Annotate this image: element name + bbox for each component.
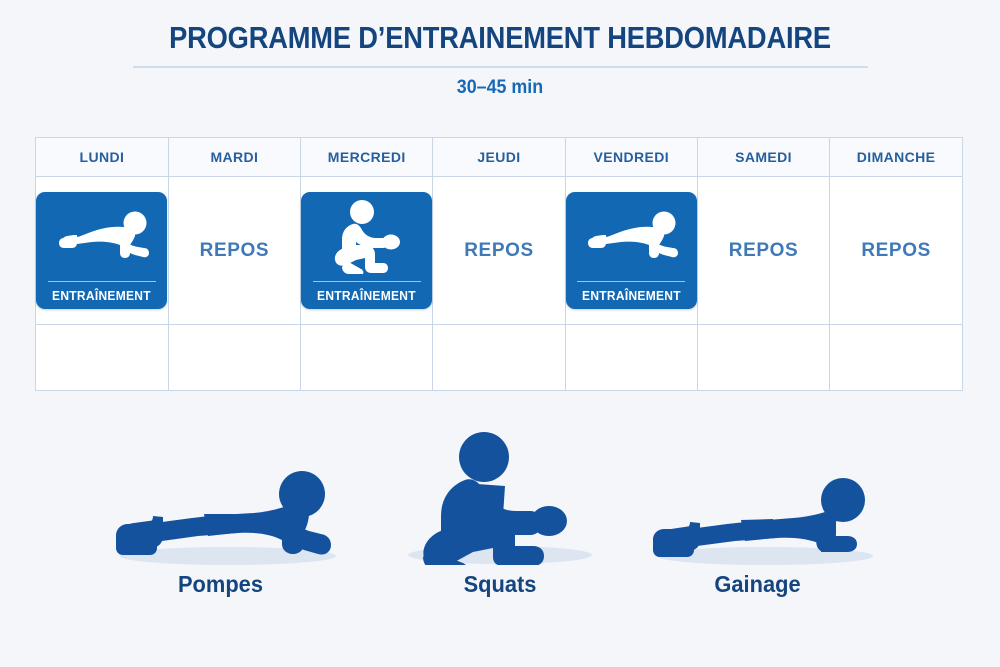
notes-cell-lundi[interactable] xyxy=(36,325,168,391)
exercise-gainage: Gainage xyxy=(625,460,890,598)
exercise-pompes: Pompes xyxy=(88,460,353,598)
workout-card-mercredi[interactable]: ENTRAÎNEMENT xyxy=(301,192,432,309)
card-label-lundi: ENTRAÎNEMENT xyxy=(52,282,151,309)
card-label-vendredi: ENTRAÎNEMENT xyxy=(582,282,681,309)
workout-card-vendredi[interactable]: ENTRAÎNEMENT xyxy=(566,192,697,309)
cell-vendredi[interactable]: ENTRAÎNEMENT xyxy=(565,177,697,325)
cell-mercredi[interactable]: ENTRAÎNEMENT xyxy=(301,177,433,325)
table-row-activities: ENTRAÎNEMENT REPOS xyxy=(36,177,962,325)
notes-cell-mercredi[interactable] xyxy=(301,325,433,391)
weekly-schedule-table: LUNDI MARDI MERCREDI JEUDI VENDREDI SAME… xyxy=(35,137,963,391)
notes-cell-samedi[interactable] xyxy=(697,325,829,391)
pushup-figure xyxy=(88,460,353,565)
exercise-label-gainage: Gainage xyxy=(632,571,884,598)
notes-cell-dimanche[interactable] xyxy=(830,325,962,391)
exercise-label-pompes: Pompes xyxy=(95,571,347,598)
plank-figure xyxy=(625,460,890,565)
pushup-icon xyxy=(566,192,697,281)
column-header-lundi: LUNDI xyxy=(36,138,168,177)
table-row-notes xyxy=(36,325,962,391)
exercise-illustrations: Pompes Squats xyxy=(0,425,1000,625)
rest-label-mardi: REPOS xyxy=(200,240,270,261)
cell-dimanche[interactable]: REPOS xyxy=(830,177,962,325)
column-header-dimanche: DIMANCHE xyxy=(830,138,962,177)
squat-icon xyxy=(301,192,432,281)
rest-label-samedi: REPOS xyxy=(729,240,799,261)
page-title: PROGRAMME D’ENTRAINEMENT HEBDOMADAIRE xyxy=(60,22,940,55)
card-label-mercredi: ENTRAÎNEMENT xyxy=(317,282,416,309)
cell-lundi[interactable]: ENTRAÎNEMENT xyxy=(36,177,168,325)
page-subtitle: 30–45 min xyxy=(30,77,970,99)
workout-card-lundi[interactable]: ENTRAÎNEMENT xyxy=(36,192,167,309)
table-header-row: LUNDI MARDI MERCREDI JEUDI VENDREDI SAME… xyxy=(36,138,962,177)
notes-cell-vendredi[interactable] xyxy=(565,325,697,391)
page-header: PROGRAMME D’ENTRAINEMENT HEBDOMADAIRE 30… xyxy=(0,0,1000,99)
title-divider xyxy=(133,66,868,68)
notes-cell-jeudi[interactable] xyxy=(433,325,565,391)
cell-mardi[interactable]: REPOS xyxy=(168,177,300,325)
rest-label-dimanche: REPOS xyxy=(861,240,931,261)
column-header-vendredi: VENDREDI xyxy=(565,138,697,177)
exercise-squats: Squats xyxy=(385,430,615,598)
column-header-mercredi: MERCREDI xyxy=(301,138,433,177)
column-header-samedi: SAMEDI xyxy=(697,138,829,177)
squat-figure xyxy=(385,430,615,565)
cell-jeudi[interactable]: REPOS xyxy=(433,177,565,325)
exercise-label-squats: Squats xyxy=(391,571,610,598)
pushup-icon xyxy=(36,192,167,281)
rest-label-jeudi: REPOS xyxy=(464,240,534,261)
notes-cell-mardi[interactable] xyxy=(168,325,300,391)
column-header-mardi: MARDI xyxy=(168,138,300,177)
cell-samedi[interactable]: REPOS xyxy=(697,177,829,325)
column-header-jeudi: JEUDI xyxy=(433,138,565,177)
